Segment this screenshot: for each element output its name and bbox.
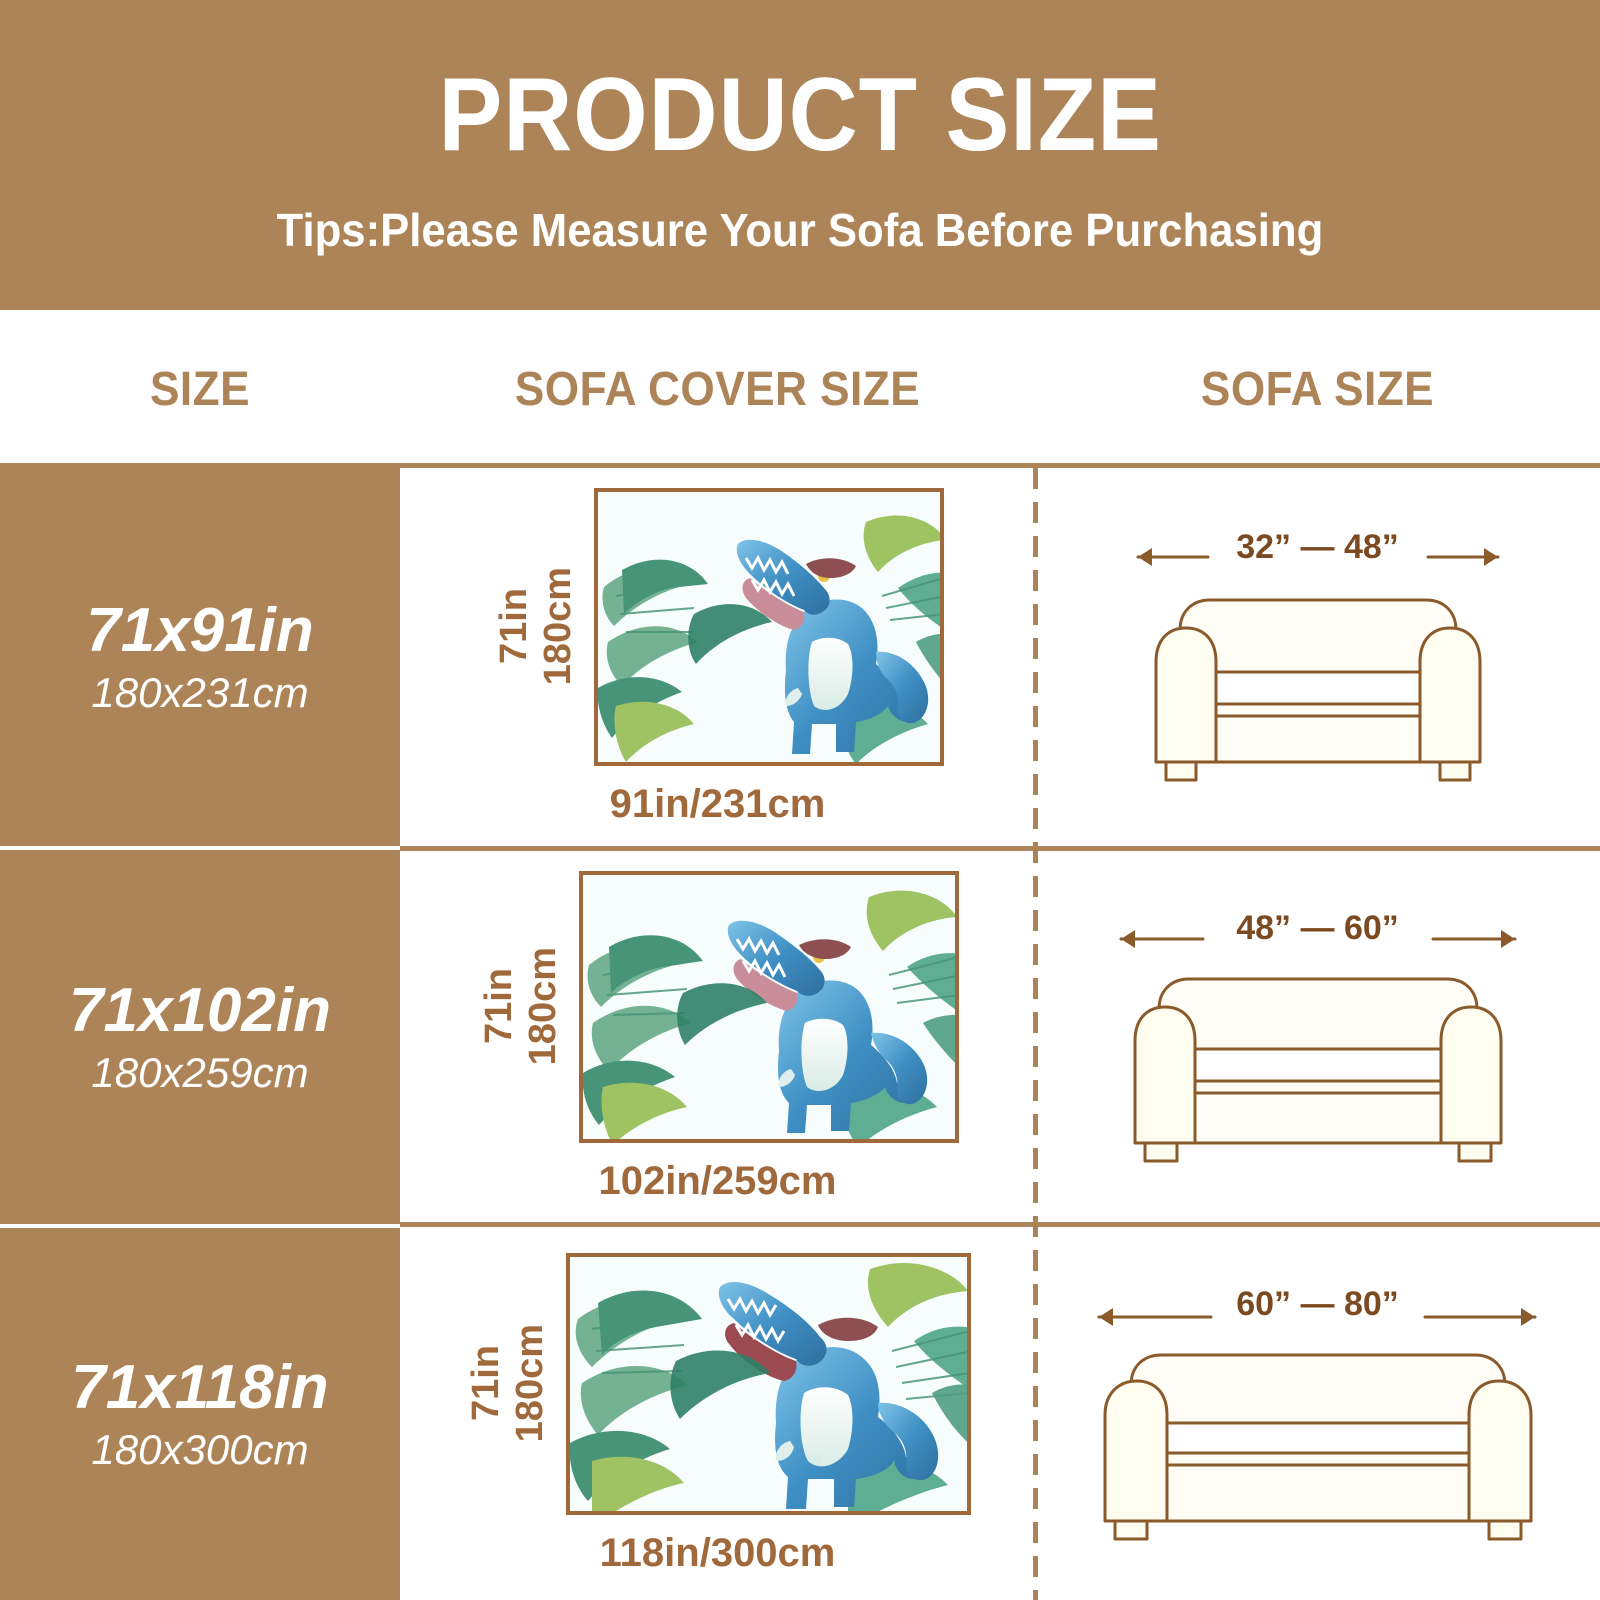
sofa-cover-cell: 71in 180cm [400, 1228, 1035, 1600]
cover-width-label: 118in/300cm [600, 1531, 836, 1576]
cover-height-labels: 71in 180cm [492, 567, 580, 685]
row2-bottom-rule [400, 1222, 1600, 1227]
size-inches: 71x102in [69, 979, 331, 1042]
sofa-cover-cell: 71in 180cm [400, 850, 1035, 1224]
cover-width-label: 102in/259cm [599, 1159, 837, 1204]
cover-height-inches: 71in [464, 1345, 508, 1421]
cover-height-labels: 71in 180cm [477, 947, 565, 1065]
cover-height-inches: 71in [492, 588, 536, 664]
sofa-dimension-label: 60” — 80” [1230, 1285, 1405, 1324]
cover-height-inches: 71in [477, 968, 521, 1044]
header-bottom-rule [0, 463, 1600, 468]
cover-height-centimeters: 180cm [521, 947, 565, 1065]
cover-height-centimeters: 180cm [508, 1324, 552, 1442]
page-title: PRODUCT SIZE [438, 63, 1161, 167]
sofa-cover-cell: 71in 180cm [400, 468, 1035, 846]
column-header-row: SIZE SOFA COVER SIZE SOFA SIZE [0, 310, 1600, 468]
sofa-cover-pattern-image [594, 488, 944, 766]
cover-sofa-divider [1033, 468, 1038, 1600]
row1-bottom-rule [400, 846, 1600, 851]
sofa-diagram-cell: 60” — 80” [1035, 1228, 1600, 1600]
column-header-sofa-size: SOFA SIZE [1058, 310, 1578, 468]
sofa-diagram-cell: 32” — 48” [1035, 468, 1600, 846]
table-row: 71x91in 180x231cm 71in 180cm [0, 468, 1600, 846]
sofa-dimension-label: 48” — 60” [1230, 909, 1405, 948]
size-centimeters: 180x259cm [91, 1051, 308, 1095]
sofa-cover-pattern-image [579, 871, 959, 1143]
sofa-cover-pattern-image [566, 1253, 971, 1515]
cover-height-centimeters: 180cm [536, 567, 580, 685]
header-banner: PRODUCT SIZE Tips:Please Measure Your So… [0, 0, 1600, 310]
column-header-sofa-cover-size: SOFA COVER SIZE [425, 310, 1009, 468]
column-header-size: SIZE [16, 310, 384, 468]
size-inches: 71x91in [86, 599, 314, 662]
dinosaur-pattern-svg [583, 875, 959, 1143]
size-centimeters: 180x300cm [91, 1428, 308, 1472]
sofa-diagram-cell: 48” — 60” [1035, 850, 1600, 1224]
cover-width-label: 91in/231cm [610, 782, 826, 827]
dinosaur-pattern-svg [570, 1257, 971, 1515]
product-size-chart: PRODUCT SIZE Tips:Please Measure Your So… [0, 0, 1600, 1600]
size-label-cell: 71x118in 180x300cm [0, 1228, 400, 1600]
table-row: 71x118in 180x300cm 71in 180cm [0, 1228, 1600, 1600]
cover-height-labels: 71in 180cm [464, 1324, 552, 1442]
table-row: 71x102in 180x259cm 71in 180cm [0, 850, 1600, 1224]
size-inches: 71x118in [71, 1356, 328, 1419]
size-centimeters: 180x231cm [91, 671, 308, 715]
sofa-dimension-label: 32” — 48” [1230, 528, 1405, 567]
dinosaur-pattern-svg [598, 492, 944, 766]
size-label-cell: 71x102in 180x259cm [0, 850, 400, 1224]
size-table: 71x91in 180x231cm 71in 180cm [0, 468, 1600, 1600]
page-subtitle: Tips:Please Measure Your Sofa Before Pur… [277, 207, 1324, 253]
size-label-cell: 71x91in 180x231cm [0, 468, 400, 846]
